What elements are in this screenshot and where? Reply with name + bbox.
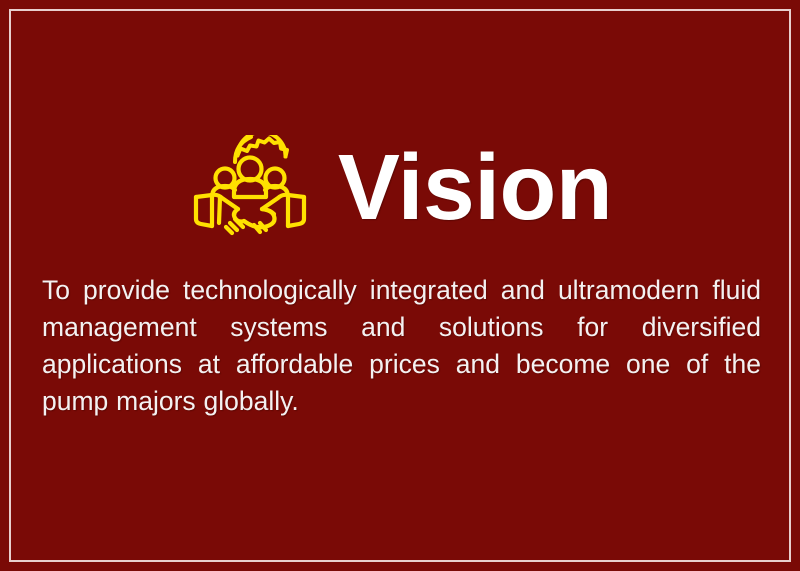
vision-slide: Vision To provide technologically integr…: [0, 0, 800, 571]
vision-statement-text: To provide technologically integrated an…: [42, 272, 761, 420]
vision-header-row: Vision: [42, 128, 760, 246]
page-title: Vision: [338, 141, 612, 234]
teamwork-handshake-gear-icon: [190, 135, 310, 239]
